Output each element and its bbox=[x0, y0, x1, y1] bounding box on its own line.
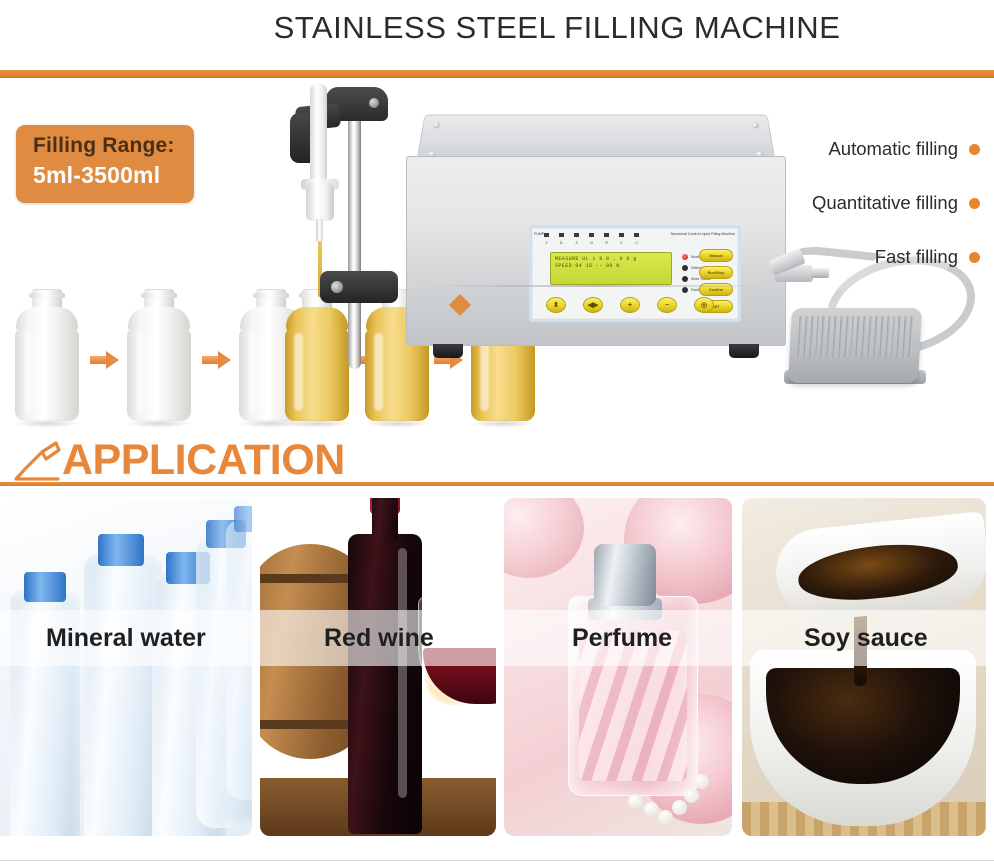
application-card-mineral-water[interactable]: Mineral water bbox=[0, 498, 252, 836]
filling-nozzle-assembly bbox=[280, 83, 410, 383]
confirm-button[interactable]: Confirm bbox=[699, 283, 733, 296]
panel-number: C bbox=[619, 241, 624, 245]
panel-number: D bbox=[589, 241, 594, 245]
filling-machine: PUMP Numerical Control Liquid Filling Ma… bbox=[394, 108, 790, 398]
application-label: Mineral water bbox=[46, 624, 206, 653]
filling-range-value: 5ml-3500ml bbox=[33, 162, 194, 189]
filling-range-title: Filling Range: bbox=[33, 134, 194, 158]
page-title: STAINLESS STEEL FILLING MACHINE bbox=[0, 0, 994, 56]
bottle-empty bbox=[10, 289, 84, 421]
product-infographic: STAINLESS STEEL FILLING MACHINE Filling … bbox=[0, 0, 994, 868]
application-label-band: Red wine bbox=[260, 610, 496, 666]
application-heading-row: APPLICATION bbox=[0, 436, 994, 488]
manual-button[interactable]: Manual bbox=[699, 249, 733, 262]
panel-number: R bbox=[604, 241, 609, 245]
hero-section: Filling Range: 5ml-3500ml bbox=[0, 78, 994, 435]
feature-label: Fast filling bbox=[875, 246, 958, 268]
support-rod bbox=[348, 101, 361, 369]
panel-number: U bbox=[634, 241, 639, 245]
foot-pedal[interactable] bbox=[788, 308, 922, 383]
application-label-band: Mineral water bbox=[0, 610, 252, 666]
leftright-button[interactable]: ◀▶ bbox=[583, 297, 603, 313]
perfume-photo bbox=[504, 498, 732, 836]
bullet-dot-icon bbox=[969, 198, 980, 209]
footer-divider bbox=[0, 860, 994, 861]
mineral-water-photo bbox=[0, 498, 252, 836]
panel-number: 2 bbox=[544, 241, 549, 245]
lcd-display: MEASURE UL 1 8 0 . 0 0 g SPEED 04 18 -- … bbox=[550, 252, 672, 285]
status-led-icon bbox=[682, 276, 688, 282]
panel-led-row bbox=[544, 233, 639, 237]
status-led-icon bbox=[682, 287, 688, 293]
updown-button[interactable]: ⬍ bbox=[546, 297, 566, 313]
flow-arrow-icon bbox=[90, 351, 120, 369]
machine-direction-arrow-icon bbox=[449, 305, 471, 316]
flask-icon bbox=[12, 440, 64, 484]
feature-label: Quantitative filling bbox=[812, 192, 958, 214]
application-heading: APPLICATION bbox=[62, 436, 345, 485]
application-card-red-wine[interactable]: Red wine bbox=[260, 498, 496, 836]
application-label: Perfume bbox=[572, 624, 672, 653]
nozzle-body bbox=[306, 183, 334, 221]
feature-list: Automatic filling Quantitative filling F… bbox=[760, 122, 980, 284]
application-label: Red wine bbox=[324, 624, 434, 653]
lcd-line-2: SPEED 04 18 -- 00 N bbox=[555, 263, 667, 270]
flow-arrow-icon bbox=[202, 351, 232, 369]
feature-item: Automatic filling bbox=[760, 122, 980, 176]
panel-number: D. bbox=[559, 241, 564, 245]
application-label: Soy sauce bbox=[804, 624, 928, 653]
lcd-line-1: MEASURE UL 1 8 0 . 0 0 g bbox=[555, 256, 667, 263]
rod-lower-bracket bbox=[320, 271, 398, 303]
panel-round-buttons: ⬍ ◀▶ + − ◎ bbox=[546, 297, 714, 313]
minus-button[interactable]: − bbox=[657, 297, 677, 313]
panel-left-mark: PUMP bbox=[534, 232, 544, 236]
header-divider bbox=[0, 70, 994, 78]
application-divider bbox=[0, 482, 994, 486]
status-led-icon bbox=[682, 265, 688, 271]
filling-range-badge: Filling Range: 5ml-3500ml bbox=[16, 125, 194, 203]
red-wine-photo bbox=[260, 498, 496, 836]
power-button[interactable]: ◎ bbox=[694, 297, 714, 313]
plus-button[interactable]: + bbox=[620, 297, 640, 313]
application-label-band: Soy sauce bbox=[742, 610, 986, 666]
application-card-soy-sauce[interactable]: Soy sauce bbox=[742, 498, 986, 836]
feature-item: Fast filling bbox=[760, 230, 980, 284]
status-led-icon bbox=[682, 254, 688, 260]
application-cards: Mineral water Red wine bbox=[0, 498, 994, 836]
pedal-grip-ribs bbox=[797, 316, 913, 358]
panel-header-text: Numerical Control Liquid Filling Machine bbox=[671, 232, 735, 236]
run-stop-button[interactable]: Run/Stop bbox=[699, 266, 733, 279]
bottle-empty bbox=[122, 289, 196, 421]
bullet-dot-icon bbox=[969, 252, 980, 263]
panel-number: 5 bbox=[574, 241, 579, 245]
soy-sauce-photo bbox=[742, 498, 986, 836]
feature-label: Automatic filling bbox=[828, 138, 958, 160]
control-panel[interactable]: PUMP Numerical Control Liquid Filling Ma… bbox=[529, 225, 741, 322]
panel-number-row: 2 D. 5 D R C U bbox=[544, 241, 639, 245]
feature-item: Quantitative filling bbox=[760, 176, 980, 230]
application-card-perfume[interactable]: Perfume bbox=[504, 498, 732, 836]
bullet-dot-icon bbox=[969, 144, 980, 155]
machine-housing: PUMP Numerical Control Liquid Filling Ma… bbox=[406, 156, 786, 346]
nozzle-tip bbox=[316, 219, 323, 243]
application-label-band: Perfume bbox=[504, 610, 732, 666]
